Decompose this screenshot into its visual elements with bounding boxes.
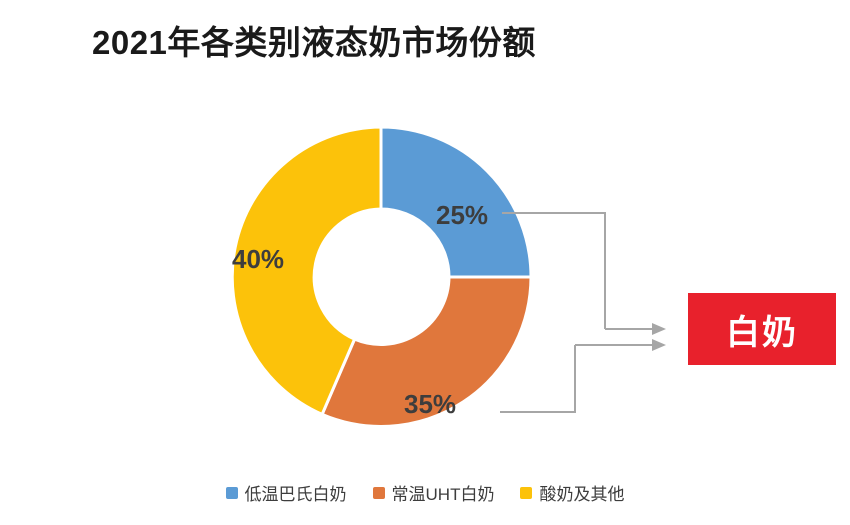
legend-item-uht-white-milk[interactable]: 常温UHT白奶 xyxy=(373,480,495,505)
slice-label-yogurt-and-others: 40% xyxy=(232,244,284,275)
callout-badge[interactable]: 白奶 xyxy=(688,293,836,365)
callout-connector xyxy=(490,190,690,430)
legend-swatch-icon xyxy=(226,487,238,499)
chart-legend: 低温巴氏白奶 常温UHT白奶 酸奶及其他 xyxy=(0,480,850,505)
callout-line-lower xyxy=(500,345,575,412)
chart-title: 2021年各类别液态奶市场份额 xyxy=(92,16,536,64)
slice-label-low-temp-pasteurized: 25% xyxy=(436,200,488,231)
chart-canvas: 2021年各类别液态奶市场份额 25% 35% 40% 白奶 低温巴氏白奶 xyxy=(0,0,850,525)
legend-swatch-icon xyxy=(520,487,532,499)
callout-badge-label: 白奶 xyxy=(726,305,798,354)
legend-label: 常温UHT白奶 xyxy=(392,480,495,505)
legend-label: 低温巴氏白奶 xyxy=(245,480,347,505)
legend-swatch-icon xyxy=(373,487,385,499)
legend-label: 酸奶及其他 xyxy=(539,480,624,505)
arrow-head-lower-icon xyxy=(652,339,666,351)
legend-item-low-temp-pasteurized[interactable]: 低温巴氏白奶 xyxy=(226,480,347,505)
callout-line-upper xyxy=(502,213,605,329)
arrow-head-upper-icon xyxy=(652,323,666,335)
slice-label-uht-white-milk: 35% xyxy=(404,389,456,420)
legend-item-yogurt-and-others[interactable]: 酸奶及其他 xyxy=(520,480,624,505)
